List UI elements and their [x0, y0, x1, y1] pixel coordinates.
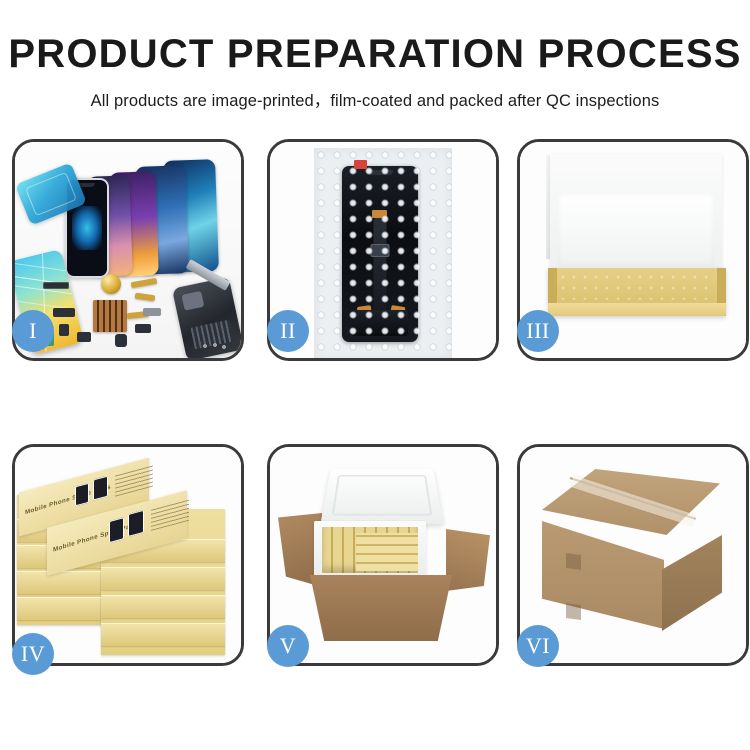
- product-preparation-infographic: PRODUCT PREPARATION PROCESS All products…: [0, 0, 750, 750]
- tray-lip: [548, 303, 726, 316]
- step-card-iii[interactable]: III: [517, 139, 749, 361]
- bubble-wrap-bag: [314, 148, 452, 358]
- box-spec-text: [151, 499, 189, 531]
- page-subtitle: All products are image-printed，film-coat…: [0, 87, 750, 111]
- step-badge-iv: IV: [12, 633, 54, 675]
- boxed-stack-illustration: Mobile Phone Spare Parts Mobile Phone Sp…: [15, 447, 241, 663]
- component-icon: [53, 308, 75, 317]
- step-badge-i: I: [12, 310, 54, 352]
- box-spec-text: [115, 465, 153, 497]
- component-icon: [115, 334, 127, 347]
- step-card-ii[interactable]: II: [267, 139, 499, 361]
- gold-box-layer: [101, 595, 225, 618]
- step-image-v: [270, 447, 496, 663]
- chip-grid-icon: [93, 300, 127, 332]
- gold-box-tray-icon: [548, 268, 726, 316]
- flex-cable-icon: [135, 293, 156, 302]
- step-badge-iii: III: [517, 310, 559, 352]
- step-badge-vi: VI: [517, 625, 559, 667]
- box-brand-text: Mobile Phone Spare Parts: [53, 521, 139, 554]
- flex-cable-icon: [131, 278, 158, 288]
- carton-handle-notch: [566, 553, 581, 570]
- qc-label-icon: [354, 160, 367, 169]
- speaker-coil-icon: [101, 274, 121, 294]
- box-phone-graphic: [75, 483, 89, 507]
- carton-flap-right: [446, 529, 490, 591]
- header: PRODUCT PREPARATION PROCESS All products…: [0, 0, 750, 111]
- step-badge-ii: II: [267, 310, 309, 352]
- component-icon: [143, 308, 161, 316]
- step-card-v[interactable]: V: [267, 444, 499, 666]
- carton-handle-notch: [566, 603, 581, 620]
- gold-boxes-in-carton: [356, 533, 418, 571]
- step-image-iv: Mobile Phone Spare Parts Mobile Phone Sp…: [15, 447, 241, 663]
- component-icon: [77, 332, 91, 342]
- bubble-wrapped-contents-icon: [558, 272, 716, 300]
- gold-box-layer: [101, 567, 225, 590]
- step-image-vi: [520, 447, 746, 663]
- box-phone-graphic: [128, 510, 144, 537]
- carton-body: [310, 575, 452, 641]
- box-phone-graphic: [109, 517, 124, 543]
- foam-sheet-icon: [558, 194, 714, 266]
- component-icon: [59, 324, 69, 336]
- step-badge-v: V: [267, 625, 309, 667]
- carton-side-face: [662, 535, 722, 631]
- step-card-vi[interactable]: VI: [517, 444, 749, 666]
- screws-icon: [201, 342, 227, 350]
- connector-bar-icon: [43, 282, 69, 289]
- bubble-texture: [314, 148, 452, 358]
- carton-loading-illustration: [270, 447, 496, 663]
- component-icon: [135, 324, 151, 333]
- sealed-carton-illustration: [520, 447, 746, 663]
- gold-box-layer: [101, 623, 225, 646]
- box-phone-graphic: [93, 476, 108, 501]
- foam-lid-icon: [320, 469, 443, 524]
- page-title: PRODUCT PREPARATION PROCESS: [0, 34, 750, 74]
- step-card-iv[interactable]: Mobile Phone Spare Parts Mobile Phone Sp…: [12, 444, 244, 666]
- step-card-i[interactable]: I: [12, 139, 244, 361]
- carton-front-face: [542, 521, 664, 629]
